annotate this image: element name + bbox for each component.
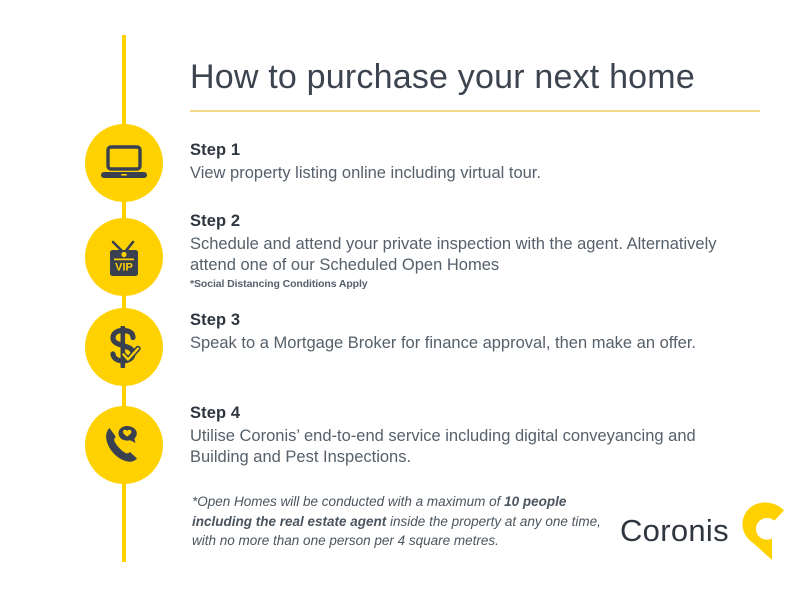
vip-tag-icon: VIP <box>100 233 148 281</box>
step-body-1: View property listing online including v… <box>190 163 541 184</box>
step-body-2: Schedule and attend your private inspect… <box>190 234 755 276</box>
step-note-2: *Social Distancing Conditions Apply <box>190 278 755 290</box>
step-heading-1: Step 1 <box>190 140 541 161</box>
step-icon-badge-2: VIP <box>85 218 163 296</box>
dollar-check-icon <box>100 323 148 371</box>
infographic-canvas: How to purchase your next home VIP <box>0 0 800 600</box>
phone-heart-icon <box>99 422 149 468</box>
step-heading-2: Step 2 <box>190 211 755 232</box>
step-block-2: Step 2 Schedule and attend your private … <box>190 211 755 290</box>
step-body-3: Speak to a Mortgage Broker for finance a… <box>190 333 696 354</box>
logo-wordmark: Coronis <box>620 513 729 549</box>
laptop-icon <box>100 143 148 183</box>
footnote-part-1: *Open Homes will be conducted with a max… <box>192 494 504 509</box>
footnote-disclaimer: *Open Homes will be conducted with a max… <box>192 492 612 551</box>
step-icon-badge-4 <box>85 406 163 484</box>
step-block-4: Step 4 Utilise Coronis’ end-to-end servi… <box>190 403 755 468</box>
brand-logo: Coronis <box>620 500 785 562</box>
step-block-3: Step 3 Speak to a Mortgage Broker for fi… <box>190 310 696 354</box>
coronis-c-pin-icon <box>741 500 785 562</box>
step-heading-3: Step 3 <box>190 310 696 331</box>
step-icon-badge-1 <box>85 124 163 202</box>
step-block-1: Step 1 View property listing online incl… <box>190 140 541 184</box>
step-icon-badge-3 <box>85 308 163 386</box>
page-title: How to purchase your next home <box>190 58 695 97</box>
svg-text:VIP: VIP <box>115 262 133 274</box>
step-body-4: Utilise Coronis’ end-to-end service incl… <box>190 426 755 468</box>
step-heading-4: Step 4 <box>190 403 755 424</box>
title-underline-rule <box>190 110 760 112</box>
